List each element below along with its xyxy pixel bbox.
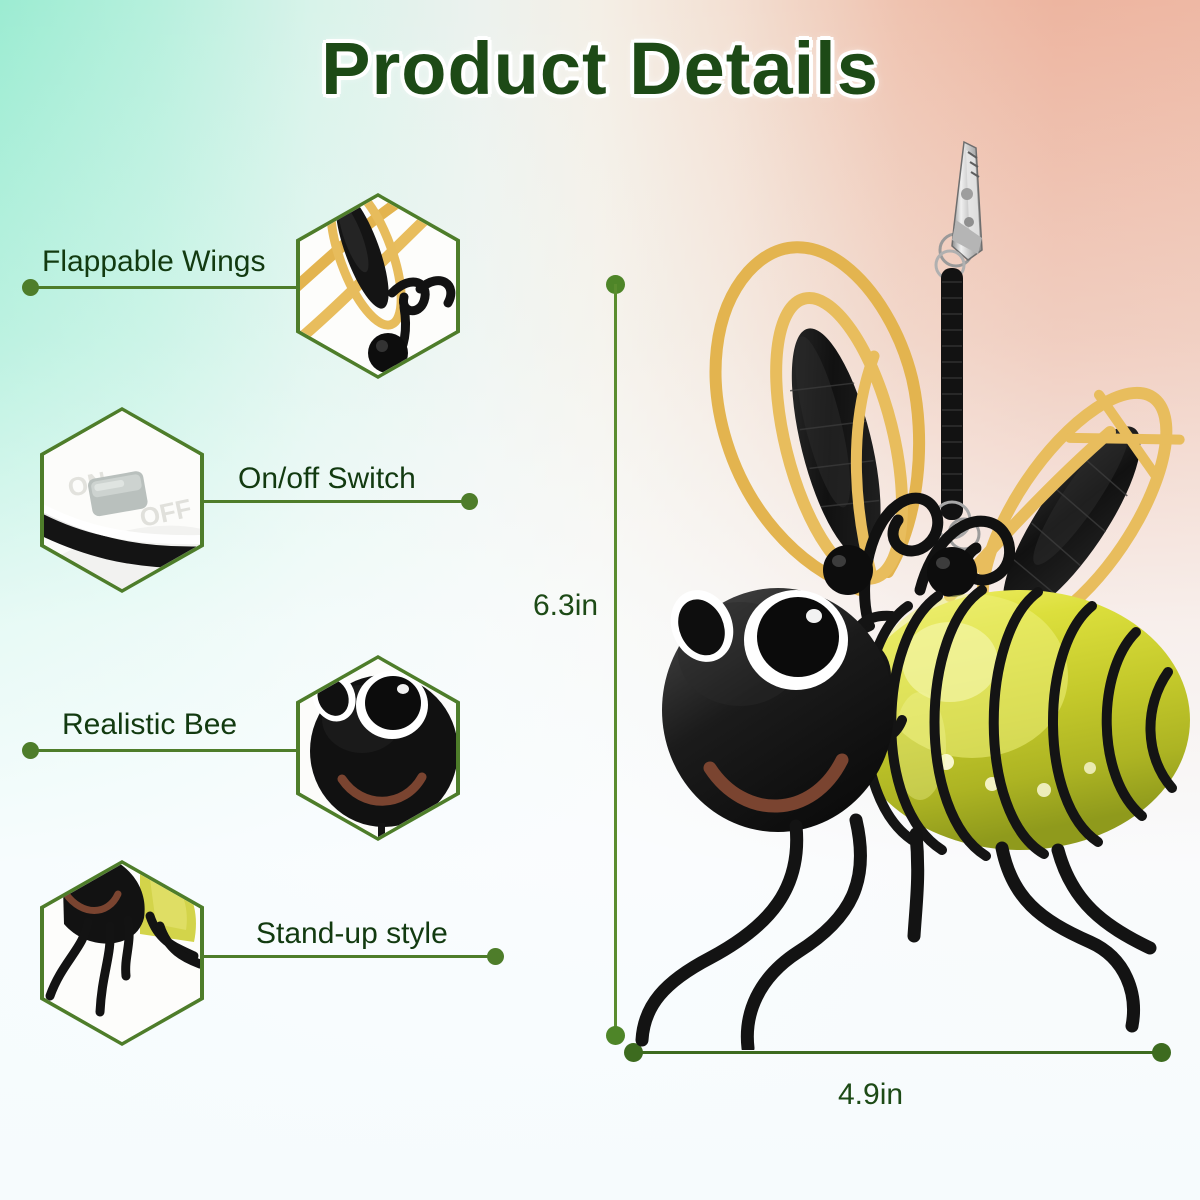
dim-line-height bbox=[614, 284, 617, 1036]
feature-label-realistic-bee: Realistic Bee bbox=[62, 708, 237, 742]
bee-head bbox=[660, 580, 894, 832]
feature-label-stand-up-style: Stand-up style bbox=[256, 917, 448, 951]
hex-callout-realistic-bee[interactable] bbox=[296, 655, 460, 841]
photo-switch-closeup: ON OFF bbox=[44, 411, 200, 589]
antenna-ball-right bbox=[927, 547, 977, 597]
dimension-width-label: 4.9in bbox=[838, 1078, 903, 1112]
eye-right bbox=[744, 590, 848, 690]
dimension-height-label: 6.3in bbox=[533, 589, 598, 623]
page-title: Product Details bbox=[0, 26, 1200, 111]
leader-dot-on-off-switch bbox=[461, 493, 478, 510]
product-image-solar-bee bbox=[620, 120, 1200, 1050]
photo-bee-legs-closeup bbox=[44, 864, 200, 1042]
leader-line-on-off-switch bbox=[203, 500, 466, 503]
hex-callout-stand-up-style[interactable] bbox=[40, 860, 204, 1046]
bee-legs bbox=[642, 820, 1150, 1048]
photo-bee-head-closeup bbox=[300, 659, 456, 837]
leader-line-stand-up-style bbox=[203, 955, 492, 958]
hanging-rod-and-clip bbox=[934, 142, 982, 549]
dim-line-width bbox=[633, 1051, 1161, 1054]
feature-label-on-off-switch: On/off Switch bbox=[238, 462, 416, 496]
antenna-ball-left bbox=[823, 545, 873, 595]
feature-label-flappable-wings: Flappable Wings bbox=[42, 245, 265, 279]
leader-line-flappable-wings bbox=[34, 286, 300, 289]
hex-callout-on-off-switch[interactable]: ON OFF bbox=[40, 407, 204, 593]
photo-bee-wing-closeup bbox=[300, 197, 456, 375]
hex-callout-flappable-wings[interactable] bbox=[296, 193, 460, 379]
leader-dot-stand-up-style bbox=[487, 948, 504, 965]
leader-line-realistic-bee bbox=[34, 749, 300, 752]
